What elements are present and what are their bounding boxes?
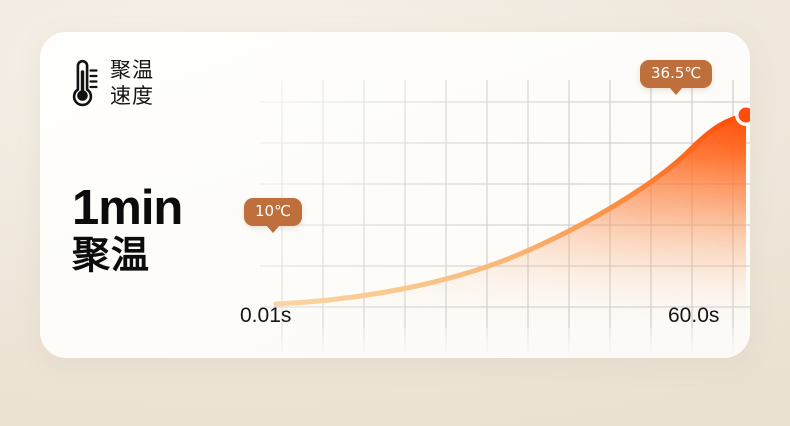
feature-card: 聚温 速度 1min 聚温 0.01s 60.0s 10℃ 36.5℃: [40, 32, 750, 358]
thermometer-icon: [72, 58, 98, 110]
page-root: 聚温 速度 1min 聚温 0.01s 60.0s 10℃ 36.5℃: [0, 0, 790, 426]
legend-line-1: 聚温: [110, 58, 154, 84]
headline-value: 1min: [72, 184, 182, 234]
headline-block: 1min 聚温: [72, 184, 182, 275]
axis-label-start: 0.01s: [240, 304, 291, 328]
start-temperature-badge: 10℃: [244, 198, 302, 226]
end-temperature-badge: 36.5℃: [640, 60, 712, 88]
legend-block: 聚温 速度: [72, 58, 154, 110]
axis-label-end: 60.0s: [668, 304, 719, 328]
legend-line-2: 速度: [110, 84, 154, 110]
legend-text: 聚温 速度: [110, 58, 154, 109]
headline-label: 聚温: [72, 236, 182, 275]
